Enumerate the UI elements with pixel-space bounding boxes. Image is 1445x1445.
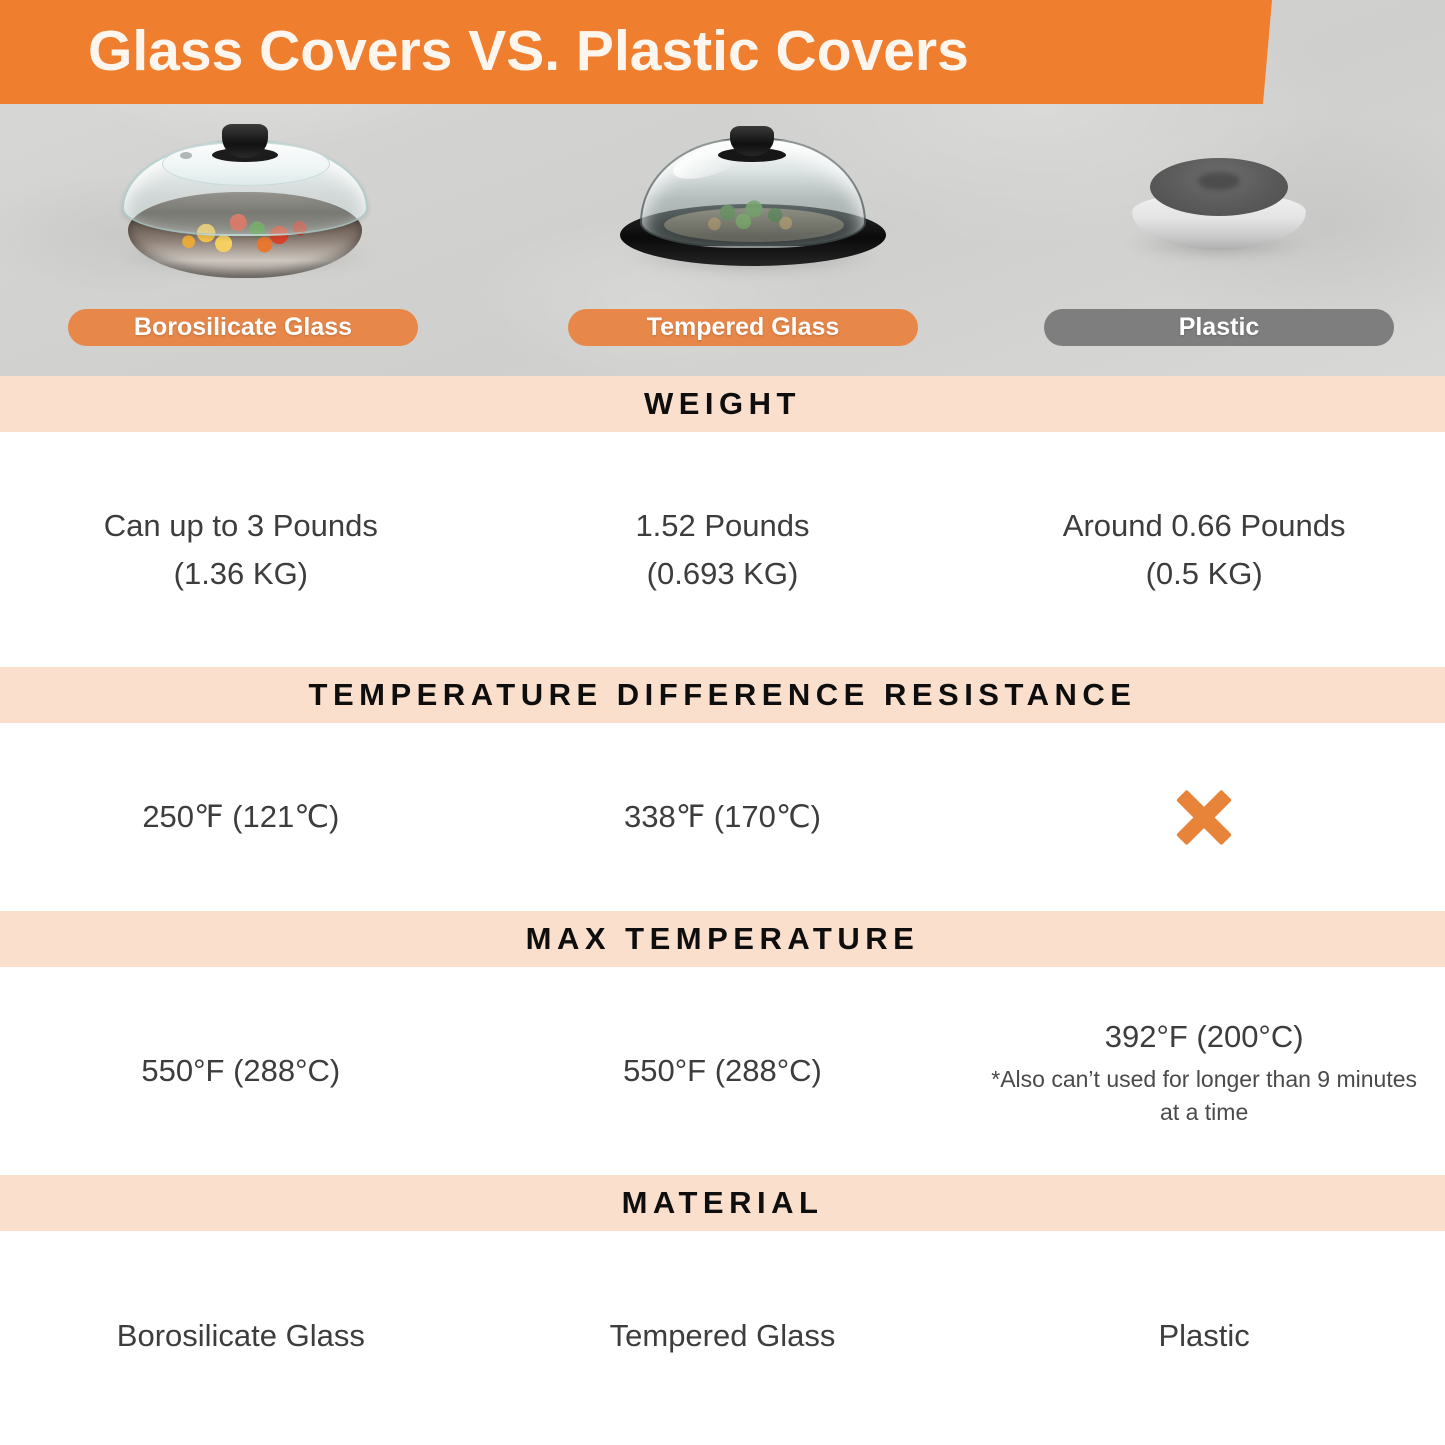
cell-value: 1.52 Pounds [635,502,809,549]
steam-vent-icon [180,152,192,159]
cell-maxtemp-plastic: 392°F (200°C) *Also can’t used for longe… [963,967,1445,1175]
plastic-cover-photo [1124,152,1314,268]
section-title: MAX TEMPERATURE [526,921,920,957]
cell-value-secondary: (0.5 KG) [1146,550,1263,597]
product-label-borosilicate-glass: Borosilicate Glass [68,309,418,346]
section-row-max-temperature: 550°F (288°C) 550°F (288°C) 392°F (200°C… [0,967,1445,1175]
cell-note: *Also can’t used for longer than 9 minut… [985,1063,1423,1128]
tempered-glass-cover-photo [614,126,892,284]
cell-material-plastic: Plastic [963,1231,1445,1441]
cell-value-secondary: (1.36 KG) [174,550,308,597]
section-title: TEMPERATURE DIFFERENCE RESISTANCE [309,677,1137,713]
cell-material-tempered: Tempered Glass [482,1231,964,1441]
cell-value: Borosilicate Glass [117,1312,365,1359]
cell-maxtemp-borosilicate: 550°F (288°C) [0,967,482,1175]
product-label-plastic: Plastic [1044,309,1394,346]
cell-tdr-plastic [963,723,1445,911]
section-header-material: MATERIAL [0,1175,1445,1231]
pill-label-text: Tempered Glass [647,313,840,342]
cell-value: Can up to 3 Pounds [104,502,378,549]
cell-value: 338℉ (170℃) [624,793,821,840]
section-header-temperature-difference-resistance: TEMPERATURE DIFFERENCE RESISTANCE [0,667,1445,723]
cell-value: Around 0.66 Pounds [1063,502,1346,549]
title-banner: Glass Covers VS. Plastic Covers [0,0,1285,104]
cell-value: 550°F (288°C) [141,1047,340,1094]
cell-tdr-tempered: 338℉ (170℃) [482,723,964,911]
section-header-weight: WEIGHT [0,376,1445,432]
cell-maxtemp-tempered: 550°F (288°C) [482,967,964,1175]
section-header-max-temperature: MAX TEMPERATURE [0,911,1445,967]
cell-value: Plastic [1158,1312,1249,1359]
page-title: Glass Covers VS. Plastic Covers [88,18,969,84]
pill-label-text: Borosilicate Glass [134,313,352,342]
product-label-tempered-glass: Tempered Glass [568,309,918,346]
cell-weight-borosilicate: Can up to 3 Pounds (1.36 KG) [0,432,482,667]
cell-value: 550°F (288°C) [623,1047,822,1094]
cell-value: Tempered Glass [610,1312,836,1359]
product-photo-banner: Glass Covers VS. Plastic Covers [0,0,1445,376]
cell-value-secondary: (0.693 KG) [647,550,799,597]
cell-tdr-borosilicate: 250℉ (121℃) [0,723,482,911]
section-title: MATERIAL [622,1185,824,1221]
cell-value: 250℉ (121℃) [142,793,339,840]
cell-weight-plastic: Around 0.66 Pounds (0.5 KG) [963,432,1445,667]
cell-weight-tempered: 1.52 Pounds (0.693 KG) [482,432,964,667]
cell-value: 392°F (200°C) [1105,1013,1304,1060]
borosilicate-glass-cover-photo [100,118,390,286]
section-title: WEIGHT [644,386,801,422]
plastic-top-dimple [1198,172,1240,190]
section-row-material: Borosilicate Glass Tempered Glass Plasti… [0,1231,1445,1441]
pill-label-text: Plastic [1179,313,1260,342]
x-mark-icon [1173,786,1235,848]
section-row-weight: Can up to 3 Pounds (1.36 KG) 1.52 Pounds… [0,432,1445,667]
section-row-temperature-difference-resistance: 250℉ (121℃) 338℉ (170℃) [0,723,1445,911]
cell-material-borosilicate: Borosilicate Glass [0,1231,482,1441]
comparison-infographic: Glass Covers VS. Plastic Covers [0,0,1445,1445]
